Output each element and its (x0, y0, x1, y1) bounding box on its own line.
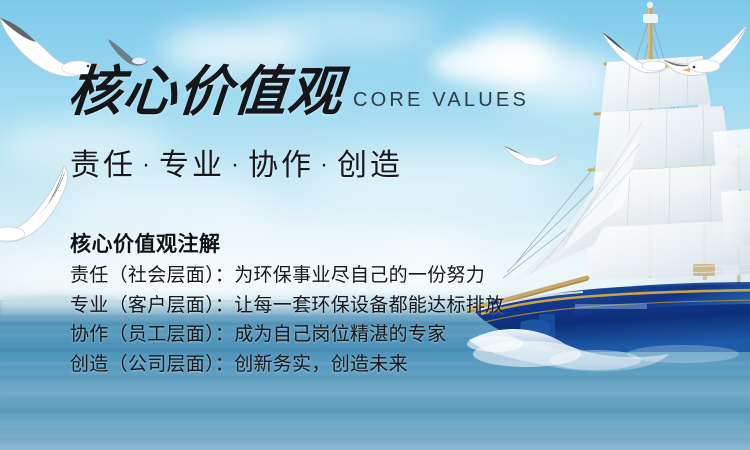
note-item: 协作（员工层面）：成为自己岗位精湛的专家 (70, 320, 504, 350)
value-separator: · (314, 151, 337, 178)
value-word-3: 协作 (248, 149, 314, 182)
page-title: 核心价值观 (65, 62, 345, 120)
notes-heading: 核心价值观注解 (70, 228, 221, 258)
value-separator: · (225, 151, 248, 178)
note-item: 创造（公司层面）：创新务实，创造未来 (70, 350, 504, 380)
note-item: 责任（社会层面）：为环保事业尽自己的一份努力 (70, 261, 504, 291)
title-row: 核心价值观 CORE VALUES (68, 62, 529, 120)
core-values-banner: 核心价值观 CORE VALUES 责任·专业·协作·创造 核心价值观注解 责任… (0, 0, 750, 450)
value-word-4: 创造 (337, 149, 403, 182)
notes-list: 责任（社会层面）：为环保事业尽自己的一份努力 专业（客户层面）：让每一套环保设备… (70, 261, 504, 379)
page-title-english: CORE VALUES (353, 89, 529, 120)
value-word-2: 专业 (159, 149, 225, 182)
core-values-subtitle: 责任·专业·协作·创造 (70, 140, 403, 184)
text-overlay: 核心价值观 CORE VALUES 责任·专业·协作·创造 核心价值观注解 责任… (0, 0, 750, 450)
value-separator: · (136, 151, 159, 178)
note-item: 专业（客户层面）：让每一套环保设备都能达标排放 (70, 291, 504, 321)
value-word-1: 责任 (70, 149, 136, 182)
